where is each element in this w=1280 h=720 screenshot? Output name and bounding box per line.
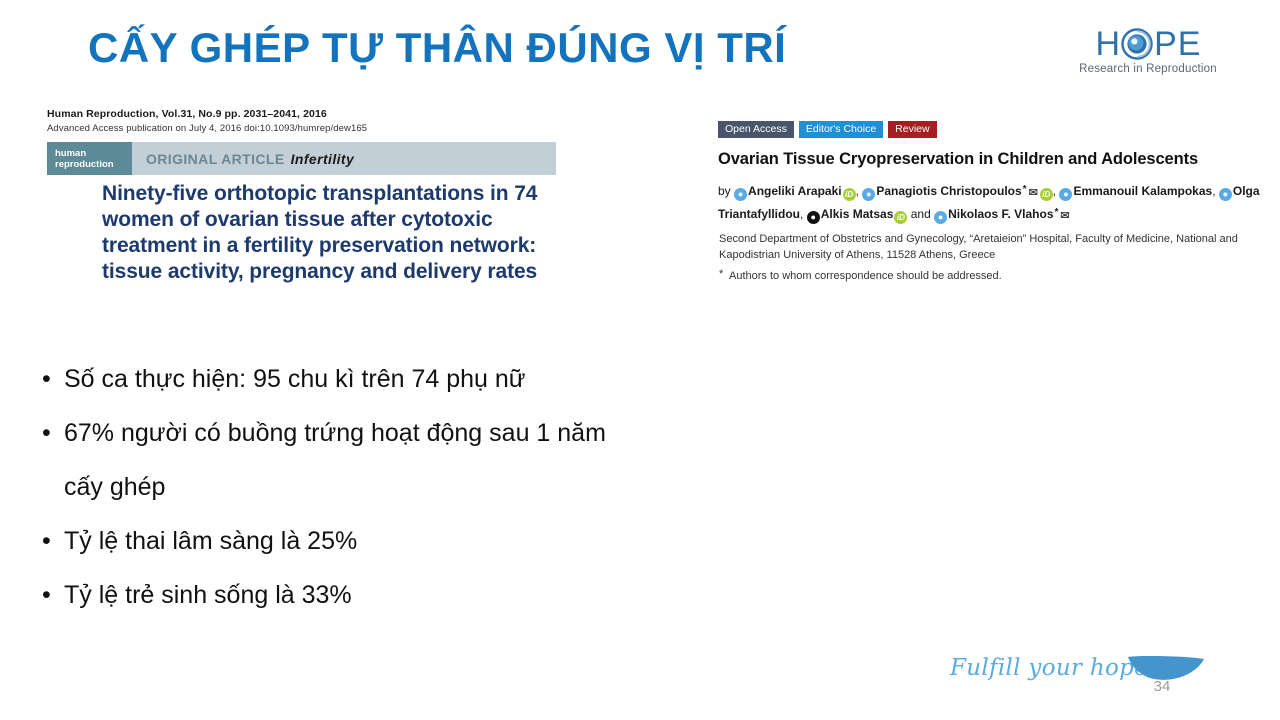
journal-banner: human reproduction ORIGINAL ARTICLE Infe… [47, 142, 556, 175]
person-icon: ● [934, 211, 947, 224]
list-item: •Tỷ lệ trẻ sinh sống là 33% [32, 568, 642, 622]
orcid-icon: iD [1040, 188, 1053, 201]
and-label: and [911, 207, 931, 221]
correspondence-note: * Authors to whom correspondence should … [719, 268, 1264, 284]
page-number: 34 [1142, 678, 1182, 695]
badge-editors-choice: Editor's Choice [799, 121, 883, 138]
corresponding-star-icon: * [1055, 207, 1059, 218]
left-article-title: Ninety-five orthotopic transplantations … [102, 181, 572, 285]
author-name: Alkis Matsas [821, 207, 894, 221]
envelope-icon: ✉ [1029, 187, 1038, 199]
list-item: •Số ca thực hiện: 95 chu kì trên 74 phụ … [32, 352, 642, 406]
list-item-text: Tỷ lệ trẻ sinh sống là 33% [64, 581, 352, 609]
journal-citation: Human Reproduction, Vol.31, No.9 pp. 203… [47, 108, 567, 120]
affiliation-block: Second Department of Obstetrics and Gyne… [719, 231, 1264, 284]
list-item: •67% người có buồng trứng hoạt động sau … [32, 406, 642, 514]
left-column: Human Reproduction, Vol.31, No.9 pp. 203… [0, 0, 640, 720]
author-name: Angeliki Arapaki [748, 184, 842, 198]
journal-brand-line2: reproduction [55, 160, 132, 171]
journal-brand: human reproduction [47, 142, 132, 175]
journal-doi-line: Advanced Access publication on July 4, 2… [47, 123, 567, 134]
by-label: by [718, 184, 731, 198]
article-type-label: ORIGINAL ARTICLE [146, 151, 285, 167]
envelope-icon: ✉ [1060, 210, 1069, 222]
correspondence-note-text: Authors to whom correspondence should be… [729, 270, 1002, 282]
person-icon: ● [1059, 188, 1072, 201]
bullet-dot-icon: • [42, 568, 51, 622]
orcid-icon: iD [843, 188, 856, 201]
person-icon-dark: ● [807, 211, 820, 224]
footer-tagline: Fulfill your hope [950, 655, 1148, 681]
author-separator: , [800, 207, 803, 221]
author-separator: , [1212, 184, 1215, 198]
list-item: •Tỷ lệ thai lâm sàng là 25% [32, 514, 642, 568]
bullet-dot-icon: • [42, 406, 51, 460]
person-icon: ● [734, 188, 747, 201]
author-list: by ●Angeliki ArapakiiD, ●Panagiotis Chri… [718, 180, 1263, 226]
right-article-title: Ovarian Tissue Cryopreservation in Child… [718, 150, 1258, 169]
person-icon: ● [862, 188, 875, 201]
badge-review: Review [888, 121, 936, 138]
list-item-text: Số ca thực hiện: 95 chu kì trên 74 phụ n… [64, 365, 526, 393]
bullet-dot-icon: • [42, 352, 51, 406]
article-section-label: Infertility [291, 151, 355, 167]
article-type-banner: ORIGINAL ARTICLE Infertility [132, 142, 556, 175]
list-item-text: 67% người có buồng trứng hoạt động sau 1… [64, 419, 606, 501]
corresponding-star-icon: * [719, 266, 723, 282]
person-icon: ● [1219, 188, 1232, 201]
author-separator: , [1053, 184, 1056, 198]
bullet-dot-icon: • [42, 514, 51, 568]
author-name: Nikolaos F. Vlahos [948, 207, 1053, 221]
journal-metadata: Human Reproduction, Vol.31, No.9 pp. 203… [47, 108, 567, 134]
author-separator: , [856, 184, 859, 198]
list-item-text: Tỷ lệ thai lâm sàng là 25% [64, 527, 357, 555]
right-column: Open Access Editor's Choice Review Ovari… [640, 0, 1280, 720]
author-name: Emmanouil Kalampokas [1073, 184, 1212, 198]
article-badges: Open Access Editor's Choice Review [718, 121, 937, 138]
left-bullet-list: •Số ca thực hiện: 95 chu kì trên 74 phụ … [32, 352, 642, 622]
author-name: Panagiotis Christopoulos [876, 184, 1021, 198]
orcid-icon: iD [894, 211, 907, 224]
corresponding-star-icon: * [1023, 184, 1027, 195]
journal-brand-line1: human [55, 149, 132, 160]
badge-open-access: Open Access [718, 121, 794, 138]
affiliation-text: Second Department of Obstetrics and Gyne… [719, 231, 1264, 263]
